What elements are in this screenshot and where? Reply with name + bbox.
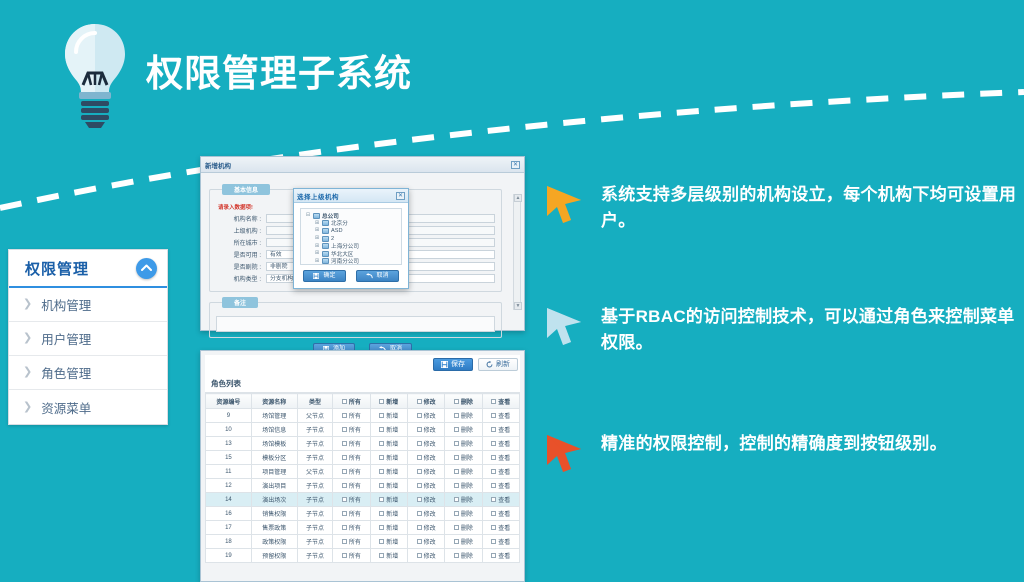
header-checkbox[interactable] (491, 399, 496, 404)
refresh-button-label: 刷新 (496, 361, 510, 368)
chevron-right-icon: ❯ (23, 402, 32, 413)
sidebar-item-label: 用户管理 (41, 329, 91, 348)
save-icon (313, 273, 319, 279)
permission-cell[interactable]: 删除 (445, 437, 482, 451)
permission-checkbox[interactable] (417, 441, 422, 446)
folder-icon (322, 243, 329, 249)
permission-cell[interactable]: 删除 (445, 521, 482, 535)
permission-checkbox[interactable] (491, 525, 496, 530)
permission-checkbox[interactable] (342, 497, 347, 502)
permission-checkbox[interactable] (342, 455, 347, 460)
permission-label: 修改 (424, 537, 436, 546)
permission-cell[interactable]: 修改 (407, 521, 444, 535)
permission-checkbox[interactable] (379, 511, 384, 516)
resource-name: 模板分区 (251, 451, 297, 465)
permission-label: 修改 (424, 509, 436, 518)
permission-cell[interactable]: 查看 (482, 465, 519, 479)
permission-cell[interactable]: 修改 (407, 437, 444, 451)
chevron-right-icon: ❯ (23, 299, 32, 310)
table-header-cell-8[interactable]: 查看 (482, 394, 519, 409)
permission-checkbox[interactable] (491, 539, 496, 544)
permission-label: 查看 (498, 453, 510, 462)
permission-cell[interactable]: 查看 (482, 409, 519, 423)
page-title: 权限管理子系统 (146, 55, 412, 130)
permission-checkbox[interactable] (379, 497, 384, 502)
permission-label: 删除 (461, 523, 473, 532)
table-row[interactable]: 14演出场次子节点所有新增修改删除查看 (206, 493, 520, 507)
header-checkbox[interactable] (379, 399, 384, 404)
permission-checkbox[interactable] (379, 553, 384, 558)
resource-type: 子节点 (297, 549, 333, 563)
permission-checkbox[interactable] (379, 539, 384, 544)
resource-name: 场馆信息 (251, 423, 297, 437)
refresh-button[interactable]: 刷新 (478, 358, 518, 371)
remark-textarea[interactable] (216, 316, 495, 332)
sidebar-item-label: 角色管理 (41, 363, 91, 382)
tree-node-label: 2 (331, 236, 334, 242)
permission-checkbox[interactable] (491, 441, 496, 446)
resource-type: 子节点 (297, 437, 333, 451)
permission-label: 删除 (461, 411, 473, 420)
permission-cell[interactable]: 查看 (482, 507, 519, 521)
header-checkbox-label: 修改 (424, 397, 436, 406)
table-header-cell-5[interactable]: 新增 (370, 394, 407, 409)
permission-checkbox[interactable] (454, 525, 459, 530)
permission-cell[interactable]: 新增 (370, 521, 407, 535)
plus-icon[interactable]: ⊞ (314, 236, 320, 241)
annotation-text: 系统支持多层级别的机构设立，每个机构下均可设置用户。 (601, 182, 1024, 235)
table-row[interactable]: 18政策权限子节点所有新增修改删除查看 (206, 535, 520, 549)
permission-checkbox[interactable] (342, 427, 347, 432)
tree-node-3[interactable]: ⊞ASD (305, 227, 397, 235)
permission-cell[interactable]: 所有 (333, 535, 370, 549)
table-header-cell-6[interactable]: 修改 (407, 394, 444, 409)
annotation-text: 精准的权限控制，控制的精确度到按钮级别。 (601, 431, 947, 457)
table-row[interactable]: 19预留权限子节点所有新增修改删除查看 (206, 549, 520, 563)
header-checkbox-label: 所有 (349, 397, 361, 406)
permission-cell[interactable]: 新增 (370, 549, 407, 563)
permission-label: 删除 (461, 481, 473, 490)
permission-label: 所有 (349, 523, 361, 532)
permission-cell[interactable]: 新增 (370, 451, 407, 465)
permission-checkbox[interactable] (454, 553, 459, 558)
table-row[interactable]: 17售票政策子节点所有新增修改删除查看 (206, 521, 520, 535)
resource-name: 政策权限 (251, 535, 297, 549)
permission-checkbox[interactable] (417, 455, 422, 460)
permission-cell[interactable]: 所有 (333, 451, 370, 465)
modal-titlebar: 选择上级机构 ✕ (294, 189, 408, 203)
resource-type: 子节点 (297, 507, 333, 521)
permission-label: 新增 (386, 551, 398, 560)
permission-cell[interactable]: 删除 (445, 451, 482, 465)
permission-label: 删除 (461, 467, 473, 476)
caret-up-icon[interactable]: ▲ (514, 194, 522, 202)
permission-checkbox[interactable] (417, 427, 422, 432)
permission-label: 所有 (349, 439, 361, 448)
permission-cell[interactable]: 修改 (407, 507, 444, 521)
permission-label: 查看 (498, 439, 510, 448)
resource-type: 子节点 (297, 479, 333, 493)
form-label: 所在城市 : (216, 238, 266, 247)
permission-label: 新增 (386, 495, 398, 504)
permission-checkbox[interactable] (454, 413, 459, 418)
permission-cell[interactable]: 修改 (407, 479, 444, 493)
permission-label: 查看 (498, 509, 510, 518)
organization-tree[interactable]: ⊟总公司⊞北京分⊞ASD⊞2⊞上海分公司⊞华北大区⊞河南分公司 (300, 208, 402, 265)
resource-id: 18 (206, 535, 252, 549)
permission-cell[interactable]: 查看 (482, 451, 519, 465)
form-label: 机构类型 : (216, 274, 266, 283)
window-titlebar: 新增机构 ✕ (201, 157, 524, 173)
table-row[interactable]: 10场馆信息子节点所有新增修改删除查看 (206, 423, 520, 437)
role-list-window: 保存 刷新 角色列表 资源编号资源名称类型所有新增修改删除查看 9场馆管理父节点… (200, 350, 525, 582)
tree-node-1[interactable]: ⊟总公司 (305, 212, 397, 220)
permission-label: 修改 (424, 425, 436, 434)
resource-name: 演出项目 (251, 479, 297, 493)
resource-id: 11 (206, 465, 252, 479)
permission-label: 查看 (498, 481, 510, 490)
permission-label: 修改 (424, 467, 436, 476)
permission-label: 修改 (424, 551, 436, 560)
permission-checkbox[interactable] (379, 525, 384, 530)
header-checkbox[interactable] (454, 399, 459, 404)
folder-icon (322, 228, 329, 234)
resource-name: 预留权限 (251, 549, 297, 563)
permission-cell[interactable]: 删除 (445, 465, 482, 479)
table-row[interactable]: 16销售权限子节点所有新增修改删除查看 (206, 507, 520, 521)
permission-checkbox[interactable] (342, 525, 347, 530)
permission-cell[interactable]: 修改 (407, 535, 444, 549)
table-row[interactable]: 9场馆管理父节点所有新增修改删除查看 (206, 409, 520, 423)
resource-name: 销售权限 (251, 507, 297, 521)
permission-cell[interactable]: 删除 (445, 493, 482, 507)
folder-icon (322, 236, 329, 242)
permission-cell[interactable]: 所有 (333, 465, 370, 479)
sidebar-item-label: 资源菜单 (41, 398, 91, 417)
annotation-2: 基于RBAC的访问控制技术，可以通过角色来控制菜单权限。 (541, 304, 1024, 357)
permission-cell[interactable]: 删除 (445, 423, 482, 437)
permission-checkbox[interactable] (454, 497, 459, 502)
header-checkbox-label: 新增 (386, 397, 398, 406)
form-label: 是否剧院 : (216, 262, 266, 271)
permission-checkbox[interactable] (417, 553, 422, 558)
permission-checkbox[interactable] (454, 455, 459, 460)
cursor-arrow-icon (541, 182, 587, 228)
folder-icon (322, 258, 329, 264)
resource-id: 19 (206, 549, 252, 563)
permission-cell[interactable]: 新增 (370, 479, 407, 493)
permission-label: 查看 (498, 495, 510, 504)
permission-label: 查看 (498, 537, 510, 546)
permission-cell[interactable]: 新增 (370, 437, 407, 451)
table-toolbar: 保存 刷新 (205, 355, 520, 374)
permission-cell[interactable]: 所有 (333, 423, 370, 437)
permission-checkbox[interactable] (491, 483, 496, 488)
sidebar-title: 权限管理 (25, 258, 89, 279)
permission-label: 所有 (349, 411, 361, 420)
tree-node-label: ASD (331, 228, 343, 234)
permission-label: 查看 (498, 467, 510, 476)
table-header-cell-1: 资源编号 (206, 394, 252, 409)
modal-button-2-label: 取消 (377, 273, 389, 279)
annotation-3: 精准的权限控制，控制的精确度到按钮级别。 (541, 431, 947, 477)
role-resource-table: 资源编号资源名称类型所有新增修改删除查看 9场馆管理父节点所有新增修改删除查看1… (205, 393, 520, 563)
resource-id: 10 (206, 423, 252, 437)
permission-label: 查看 (498, 551, 510, 560)
permission-cell[interactable]: 所有 (333, 521, 370, 535)
permission-label: 删除 (461, 537, 473, 546)
permission-cell[interactable]: 所有 (333, 479, 370, 493)
resource-id: 9 (206, 409, 252, 423)
permission-label: 所有 (349, 551, 361, 560)
permission-label: 查看 (498, 411, 510, 420)
remark-legend: 备注 (222, 297, 258, 308)
permission-checkbox[interactable] (342, 483, 347, 488)
permission-cell[interactable]: 删除 (445, 479, 482, 493)
permission-checkbox[interactable] (454, 511, 459, 516)
permission-checkbox[interactable] (454, 539, 459, 544)
permission-label: 所有 (349, 509, 361, 518)
permission-label: 所有 (349, 467, 361, 476)
chevron-up-icon[interactable] (136, 258, 157, 279)
permission-checkbox[interactable] (491, 469, 496, 474)
permission-checkbox[interactable] (379, 427, 384, 432)
permission-cell[interactable]: 查看 (482, 521, 519, 535)
modal-button-1[interactable]: 确定 (303, 270, 345, 282)
permission-sidebar-card: 权限管理 ❯机构管理❯用户管理❯角色管理❯资源菜单 (8, 249, 168, 425)
chevron-right-icon: ❯ (23, 333, 32, 344)
permission-checkbox[interactable] (379, 455, 384, 460)
permission-cell[interactable]: 新增 (370, 507, 407, 521)
modal-title: 选择上级机构 (297, 191, 339, 201)
folder-icon (322, 220, 329, 226)
table-row[interactable]: 11项目管理父节点所有新增修改删除查看 (206, 465, 520, 479)
window-scrollbar[interactable]: ▲ ▼ (513, 194, 521, 310)
permission-label: 修改 (424, 523, 436, 532)
permission-checkbox[interactable] (417, 413, 422, 418)
permission-cell[interactable]: 修改 (407, 423, 444, 437)
resource-id: 16 (206, 507, 252, 521)
permission-checkbox[interactable] (417, 525, 422, 530)
permission-cell[interactable]: 新增 (370, 409, 407, 423)
resource-type: 父节点 (297, 465, 333, 479)
permission-label: 修改 (424, 495, 436, 504)
permission-label: 修改 (424, 411, 436, 420)
permission-cell[interactable]: 删除 (445, 535, 482, 549)
permission-label: 删除 (461, 551, 473, 560)
permission-label: 新增 (386, 411, 398, 420)
permission-checkbox[interactable] (342, 553, 347, 558)
header-checkbox[interactable] (417, 399, 422, 404)
permission-cell[interactable]: 修改 (407, 493, 444, 507)
permission-cell[interactable]: 查看 (482, 493, 519, 507)
permission-cell[interactable]: 修改 (407, 451, 444, 465)
sidebar-item-1[interactable]: ❯机构管理 (9, 288, 167, 322)
permission-cell[interactable]: 新增 (370, 493, 407, 507)
close-icon[interactable]: ✕ (396, 192, 405, 200)
annotation-1: 系统支持多层级别的机构设立，每个机构下均可设置用户。 (541, 182, 1024, 235)
table-header-cell-3: 类型 (297, 394, 333, 409)
chevron-right-icon: ❯ (23, 367, 32, 378)
permission-checkbox[interactable] (379, 413, 384, 418)
permission-checkbox[interactable] (417, 511, 422, 516)
permission-label: 删除 (461, 439, 473, 448)
refresh-icon (486, 361, 493, 368)
permission-checkbox[interactable] (379, 483, 384, 488)
permission-checkbox[interactable] (342, 413, 347, 418)
permission-checkbox[interactable] (342, 511, 347, 516)
form-label: 是否可用 : (216, 250, 266, 259)
permission-label: 所有 (349, 537, 361, 546)
permission-label: 所有 (349, 481, 361, 490)
permission-label: 查看 (498, 523, 510, 532)
permission-cell[interactable]: 所有 (333, 437, 370, 451)
resource-name: 演出场次 (251, 493, 297, 507)
resource-id: 12 (206, 479, 252, 493)
permission-cell[interactable]: 查看 (482, 549, 519, 563)
permission-checkbox[interactable] (491, 497, 496, 502)
save-button[interactable]: 保存 (433, 358, 473, 371)
permission-label: 修改 (424, 439, 436, 448)
plus-icon[interactable]: ⊞ (314, 244, 320, 249)
cursor-arrow-icon (541, 304, 587, 350)
permission-checkbox[interactable] (417, 539, 422, 544)
permission-cell[interactable]: 查看 (482, 535, 519, 549)
permission-checkbox[interactable] (454, 427, 459, 432)
permission-cell[interactable]: 删除 (445, 409, 482, 423)
permission-cell[interactable]: 查看 (482, 423, 519, 437)
permission-checkbox[interactable] (342, 469, 347, 474)
resource-id: 13 (206, 437, 252, 451)
permission-cell[interactable]: 所有 (333, 507, 370, 521)
resource-type: 子节点 (297, 493, 333, 507)
permission-checkbox[interactable] (491, 455, 496, 460)
table-header-row: 资源编号资源名称类型所有新增修改删除查看 (206, 394, 520, 409)
sidebar-item-3[interactable]: ❯角色管理 (9, 356, 167, 390)
permission-cell[interactable]: 修改 (407, 465, 444, 479)
permission-checkbox[interactable] (417, 469, 422, 474)
permission-label: 删除 (461, 495, 473, 504)
permission-label: 新增 (386, 509, 398, 518)
permission-label: 新增 (386, 537, 398, 546)
resource-name: 售票政策 (251, 521, 297, 535)
permission-checkbox[interactable] (417, 497, 422, 502)
permission-checkbox[interactable] (342, 441, 347, 446)
permission-checkbox[interactable] (491, 427, 496, 432)
tree-node-2[interactable]: ⊞北京分 (305, 220, 397, 228)
resource-name: 项目管理 (251, 465, 297, 479)
annotation-text: 基于RBAC的访问控制技术，可以通过角色来控制菜单权限。 (601, 304, 1024, 357)
folder-icon (313, 213, 320, 219)
permission-label: 新增 (386, 425, 398, 434)
permission-cell[interactable]: 修改 (407, 409, 444, 423)
permission-cell[interactable]: 所有 (333, 549, 370, 563)
remark-fieldset: 备注 (209, 297, 502, 338)
cursor-arrow-icon (541, 431, 587, 477)
plus-icon[interactable]: ⊞ (314, 228, 320, 233)
permission-checkbox[interactable] (379, 469, 384, 474)
permission-label: 所有 (349, 425, 361, 434)
table-header-cell-7[interactable]: 删除 (445, 394, 482, 409)
table-row[interactable]: 15模板分区子节点所有新增修改删除查看 (206, 451, 520, 465)
tree-node-label: 北京分 (331, 219, 348, 227)
sidebar-item-2[interactable]: ❯用户管理 (9, 322, 167, 356)
permission-checkbox[interactable] (454, 483, 459, 488)
plus-icon[interactable]: ⊞ (314, 221, 320, 226)
lightbulb-icon (62, 22, 128, 130)
permission-label: 新增 (386, 523, 398, 532)
permission-label: 修改 (424, 453, 436, 462)
table-caption: 角色列表 (205, 374, 520, 393)
permission-label: 新增 (386, 481, 398, 490)
permission-label: 所有 (349, 453, 361, 462)
permission-cell[interactable]: 删除 (445, 507, 482, 521)
plus-icon[interactable]: ⊞ (314, 259, 320, 264)
resource-type: 父节点 (297, 409, 333, 423)
header-checkbox-label: 查看 (498, 397, 510, 406)
permission-cell[interactable]: 新增 (370, 535, 407, 549)
resource-id: 14 (206, 493, 252, 507)
save-button-label: 保存 (451, 361, 465, 368)
permission-cell[interactable]: 删除 (445, 549, 482, 563)
window-title: 新增机构 (205, 160, 231, 170)
permission-checkbox[interactable] (342, 539, 347, 544)
table-header-cell-4[interactable]: 所有 (333, 394, 370, 409)
resource-name: 场馆管理 (251, 409, 297, 423)
permission-cell[interactable]: 新增 (370, 465, 407, 479)
page-header: 权限管理子系统 (62, 22, 412, 130)
permission-cell[interactable]: 新增 (370, 423, 407, 437)
permission-checkbox[interactable] (417, 483, 422, 488)
undo-icon (366, 273, 373, 279)
resource-type: 子节点 (297, 451, 333, 465)
sidebar-item-4[interactable]: ❯资源菜单 (9, 390, 167, 424)
permission-checkbox[interactable] (491, 553, 496, 558)
form-label: 上级机构 : (216, 226, 266, 235)
resource-id: 15 (206, 451, 252, 465)
resource-id: 17 (206, 521, 252, 535)
modal-button-1-label: 确定 (323, 273, 335, 279)
permission-checkbox[interactable] (454, 441, 459, 446)
permission-label: 查看 (498, 425, 510, 434)
tree-node-7[interactable]: ⊞河南分公司 (305, 258, 397, 266)
sidebar-item-label: 机构管理 (41, 295, 91, 314)
permission-cell[interactable]: 修改 (407, 549, 444, 563)
permission-cell[interactable]: 所有 (333, 409, 370, 423)
permission-label: 修改 (424, 481, 436, 490)
close-icon[interactable]: ✕ (511, 161, 520, 169)
permission-checkbox[interactable] (491, 413, 496, 418)
basic-info-legend: 基本信息 (222, 184, 270, 195)
permission-checkbox[interactable] (491, 511, 496, 516)
modal-button-2[interactable]: 取消 (356, 270, 399, 282)
table-row[interactable]: 12演出项目子节点所有新增修改删除查看 (206, 479, 520, 493)
minus-icon[interactable]: ⊟ (305, 213, 311, 218)
permission-cell[interactable]: 查看 (482, 479, 519, 493)
permission-checkbox[interactable] (454, 469, 459, 474)
permission-checkbox[interactable] (379, 441, 384, 446)
table-row[interactable]: 13场馆模板子节点所有新增修改删除查看 (206, 437, 520, 451)
resource-name: 场馆模板 (251, 437, 297, 451)
permission-cell[interactable]: 查看 (482, 437, 519, 451)
plus-icon[interactable]: ⊞ (314, 251, 320, 256)
header-checkbox[interactable] (342, 399, 347, 404)
permission-label: 所有 (349, 495, 361, 504)
permission-cell[interactable]: 所有 (333, 493, 370, 507)
permission-label: 删除 (461, 509, 473, 518)
sidebar-header: 权限管理 (9, 250, 167, 288)
caret-down-icon[interactable]: ▼ (514, 302, 522, 310)
